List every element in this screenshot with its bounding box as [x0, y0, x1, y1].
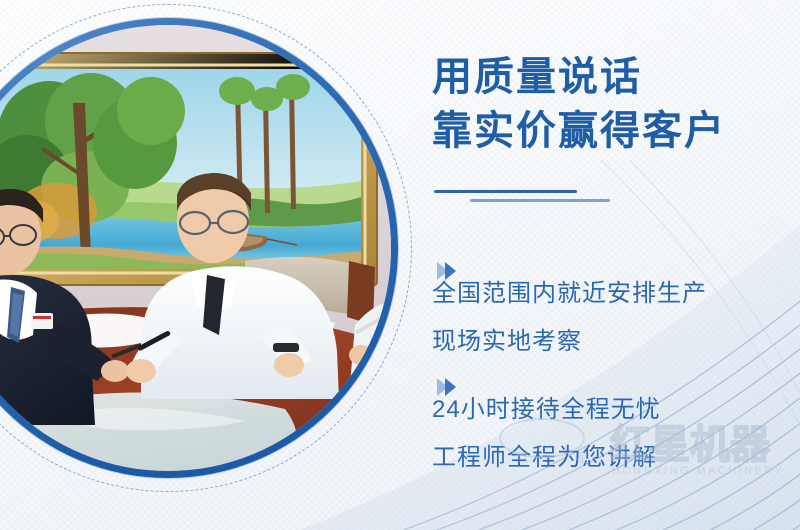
divider-secondary — [470, 199, 610, 202]
feature-item-2: 24小时接待全程无忧 工程师全程为您讲解 — [432, 368, 800, 482]
feature-item-2-text: 24小时接待全程无忧 工程师全程为您讲解 — [432, 386, 800, 482]
feature-item-1-line-2: 现场实地考察 — [432, 318, 800, 366]
photo-blue-ring — [0, 18, 398, 478]
headline-line-1: 用质量说话 — [432, 55, 642, 99]
double-chevron-arrow-icon — [434, 258, 460, 284]
feature-item-2-line-2: 工程师全程为您讲解 — [432, 434, 800, 482]
feature-item-2-line-1: 24小时接待全程无忧 — [432, 386, 800, 434]
feature-item-1-line-1: 全国范围内就近安排生产 — [432, 270, 800, 318]
content-column: 用质量说话 靠实价赢得客户 全国范围内就近安排生产 现场实地考察 — [432, 0, 800, 530]
divider-primary — [434, 190, 577, 193]
feature-item-1: 全国范围内就近安排生产 现场实地考察 — [432, 252, 800, 366]
photo-image — [0, 25, 391, 471]
headline-line-2: 靠实价赢得客户 — [432, 104, 792, 158]
double-chevron-arrow-icon — [434, 374, 460, 400]
banner-root: 用质量说话 靠实价赢得客户 全国范围内就近安排生产 现场实地考察 — [0, 0, 800, 530]
page-title: 用质量说话 靠实价赢得客户 — [432, 50, 792, 158]
feature-item-1-text: 全国范围内就近安排生产 现场实地考察 — [432, 270, 800, 366]
photo-circle — [0, 18, 398, 478]
